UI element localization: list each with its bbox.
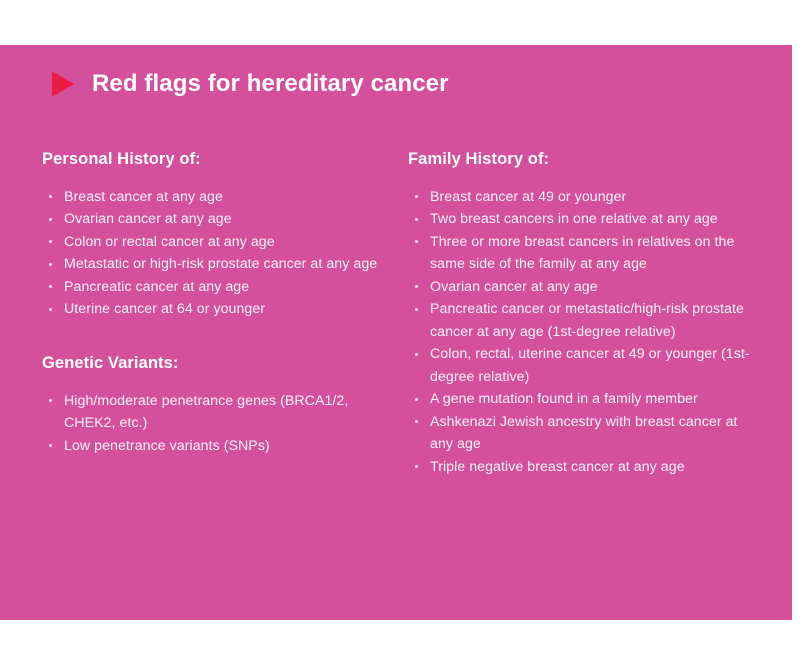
section-genetic-variants: Genetic Variants: High/moderate penetran… — [42, 354, 382, 457]
list-item: Ashkenazi Jewish ancestry with breast ca… — [408, 411, 758, 456]
bullet-dot-icon — [49, 399, 52, 402]
list-item: High/moderate penetrance genes (BRCA1/2,… — [42, 390, 382, 435]
bullet-dot-icon — [49, 263, 52, 266]
list-item: Pancreatic cancer at any age — [42, 276, 382, 299]
bullet-dot-icon — [49, 218, 52, 221]
section-family-history: Family History of: Breast cancer at 49 o… — [408, 150, 758, 478]
list-item: Metastatic or high-risk prostate cancer … — [42, 253, 382, 276]
list-family-history: Breast cancer at 49 or younger Two breas… — [408, 186, 758, 479]
bullet-dot-icon — [415, 465, 418, 468]
bullet-dot-icon — [415, 218, 418, 221]
page-title: Red flags for hereditary cancer — [92, 72, 449, 96]
bullet-dot-icon — [49, 308, 52, 311]
list-item: Two breast cancers in one relative at an… — [408, 208, 758, 231]
bullet-dot-icon — [415, 308, 418, 311]
bullet-dot-icon — [415, 285, 418, 288]
list-item-text: Triple negative breast cancer at any age — [430, 459, 685, 475]
list-item: Ovarian cancer at any age — [408, 276, 758, 299]
bullet-dot-icon — [415, 195, 418, 198]
list-item-text: Pancreatic cancer or metastatic/high-ris… — [430, 301, 748, 340]
triangle-right-icon — [52, 71, 74, 97]
section-heading-genetic-variants: Genetic Variants: — [42, 354, 382, 374]
list-item: Colon or rectal cancer at any age — [42, 231, 382, 254]
bullet-dot-icon — [49, 240, 52, 243]
list-item: Ovarian cancer at any age — [42, 208, 382, 231]
right-column: Family History of: Breast cancer at 49 o… — [408, 150, 758, 478]
bullet-dot-icon — [49, 285, 52, 288]
list-item-text: Two breast cancers in one relative at an… — [430, 211, 718, 227]
bullet-dot-icon — [49, 195, 52, 198]
list-item-text: High/moderate penetrance genes (BRCA1/2,… — [64, 393, 352, 432]
list-item-text: Three or more breast cancers in relative… — [430, 234, 742, 273]
section-heading-family-history: Family History of: — [408, 150, 758, 170]
list-item-text: Ashkenazi Jewish ancestry with breast ca… — [430, 414, 742, 453]
list-item: Uterine cancer at 64 or younger — [42, 298, 382, 321]
slide-title-row: Red flags for hereditary cancer — [52, 71, 449, 97]
list-item: Three or more breast cancers in relative… — [408, 231, 758, 276]
list-item-text: Metastatic or high-risk prostate cancer … — [64, 256, 377, 272]
list-item: A gene mutation found in a family member — [408, 388, 758, 411]
content-panel: Red flags for hereditary cancer Personal… — [0, 45, 792, 620]
list-item-text: A gene mutation found in a family member — [430, 391, 698, 407]
bullet-dot-icon — [49, 444, 52, 447]
slide-canvas: Red flags for hereditary cancer Personal… — [0, 0, 807, 662]
list-item: Breast cancer at any age — [42, 186, 382, 209]
list-item-text: Ovarian cancer at any age — [64, 211, 232, 227]
list-item: Colon, rectal, uterine cancer at 49 or y… — [408, 343, 758, 388]
bullet-dot-icon — [415, 353, 418, 356]
list-item-text: Uterine cancer at 64 or younger — [64, 301, 265, 317]
list-item: Pancreatic cancer or metastatic/high-ris… — [408, 298, 758, 343]
list-item: Breast cancer at 49 or younger — [408, 186, 758, 209]
list-item: Low penetrance variants (SNPs) — [42, 435, 382, 458]
section-heading-personal-history: Personal History of: — [42, 150, 382, 170]
list-item-text: Pancreatic cancer at any age — [64, 279, 249, 295]
list-item-text: Colon, rectal, uterine cancer at 49 or y… — [430, 346, 750, 385]
bullet-dot-icon — [415, 240, 418, 243]
bullet-dot-icon — [415, 398, 418, 401]
list-genetic-variants: High/moderate penetrance genes (BRCA1/2,… — [42, 390, 382, 458]
list-item-text: Colon or rectal cancer at any age — [64, 234, 275, 250]
list-item-text: Ovarian cancer at any age — [430, 279, 598, 295]
list-personal-history: Breast cancer at any age Ovarian cancer … — [42, 186, 382, 321]
list-item: Triple negative breast cancer at any age — [408, 456, 758, 479]
left-column: Personal History of: Breast cancer at an… — [42, 150, 382, 457]
section-personal-history: Personal History of: Breast cancer at an… — [42, 150, 382, 321]
list-item-text: Breast cancer at 49 or younger — [430, 189, 626, 205]
bullet-dot-icon — [415, 420, 418, 423]
list-item-text: Breast cancer at any age — [64, 189, 223, 205]
list-item-text: Low penetrance variants (SNPs) — [64, 438, 270, 454]
